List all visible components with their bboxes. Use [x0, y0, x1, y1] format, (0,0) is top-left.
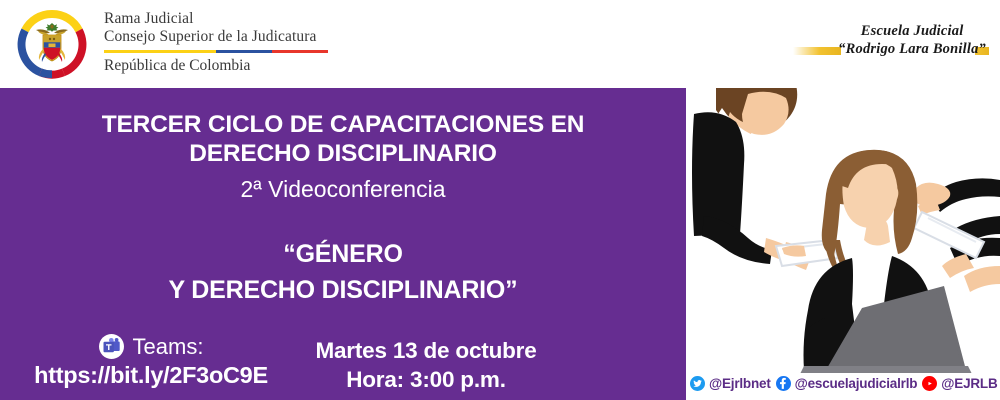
event-topic: “GÉNERO Y DERECHO DISCIPLINARIO” — [0, 236, 686, 308]
social-media-bar: @Ejrlbnet @escuelajudicialrlb @EJRLB — [690, 372, 998, 394]
flag-stripe-yellow — [104, 50, 216, 53]
social-handle-facebook[interactable]: @escuelajudicialrlb — [795, 376, 918, 391]
facebook-icon[interactable] — [776, 376, 791, 391]
social-item-twitter[interactable]: @Ejrlbnet — [690, 376, 771, 391]
brand-country: República de Colombia — [104, 57, 250, 75]
purple-content-panel: TERCER CICLO DE CAPACITACIONES EN DERECH… — [0, 88, 686, 400]
gold-dash-left-icon — [793, 47, 841, 55]
microsoft-teams-icon — [99, 334, 124, 359]
event-time: Hora: 3:00 p.m. — [276, 365, 576, 394]
brand-line-consejo-superior: Consejo Superior de la Judicatura — [104, 28, 524, 46]
workplace-harassment-illustration — [686, 88, 1000, 400]
institutional-header: Rama Judicial Consejo Superior de la Jud… — [0, 0, 1000, 88]
illustration-svg — [686, 88, 1000, 373]
escuela-judicial-mark: Escuela Judicial “Rodrigo Lara Bonilla” — [838, 22, 986, 58]
event-schedule: Martes 13 de octubre Hora: 3:00 p.m. — [276, 336, 576, 394]
escudo-colombia-icon — [14, 6, 90, 82]
social-handle-twitter[interactable]: @Ejrlbnet — [709, 376, 771, 391]
teams-join-block[interactable]: Teams: https://bit.ly/2F3oC9E — [6, 334, 296, 389]
event-title: TERCER CICLO DE CAPACITACIONES EN DERECH… — [0, 110, 686, 168]
colombia-flag-rule — [104, 50, 328, 53]
event-topic-line-1: “GÉNERO — [0, 236, 686, 272]
youtube-icon[interactable] — [922, 376, 937, 391]
event-banner: Rama Judicial Consejo Superior de la Jud… — [0, 0, 1000, 400]
event-topic-line-2: Y DERECHO DISCIPLINARIO” — [0, 272, 686, 308]
teams-label: Teams: — [133, 335, 204, 359]
brand-title: Rama Judicial Consejo Superior de la Jud… — [104, 10, 524, 45]
escuela-line-1: Escuela Judicial — [838, 22, 986, 40]
brand-line-rama-judicial: Rama Judicial — [104, 10, 524, 28]
social-handle-youtube[interactable]: @EJRLB — [941, 376, 997, 391]
flag-stripe-blue — [216, 50, 272, 53]
escuela-line-2: “Rodrigo Lara Bonilla” — [838, 40, 986, 58]
social-item-facebook[interactable]: @escuelajudicialrlb — [776, 376, 918, 391]
event-date: Martes 13 de octubre — [276, 336, 576, 365]
event-title-line-1: TERCER CICLO DE CAPACITACIONES EN — [0, 110, 686, 139]
flag-stripe-red — [272, 50, 328, 53]
social-item-youtube[interactable]: @EJRLB — [922, 376, 997, 391]
event-title-line-2: DERECHO DISCIPLINARIO — [0, 139, 686, 168]
twitter-icon[interactable] — [690, 376, 705, 391]
event-subtitle: 2ª Videoconferencia — [0, 176, 686, 202]
teams-label-row: Teams: — [6, 334, 296, 359]
teams-meeting-link[interactable]: https://bit.ly/2F3oC9E — [6, 361, 296, 389]
